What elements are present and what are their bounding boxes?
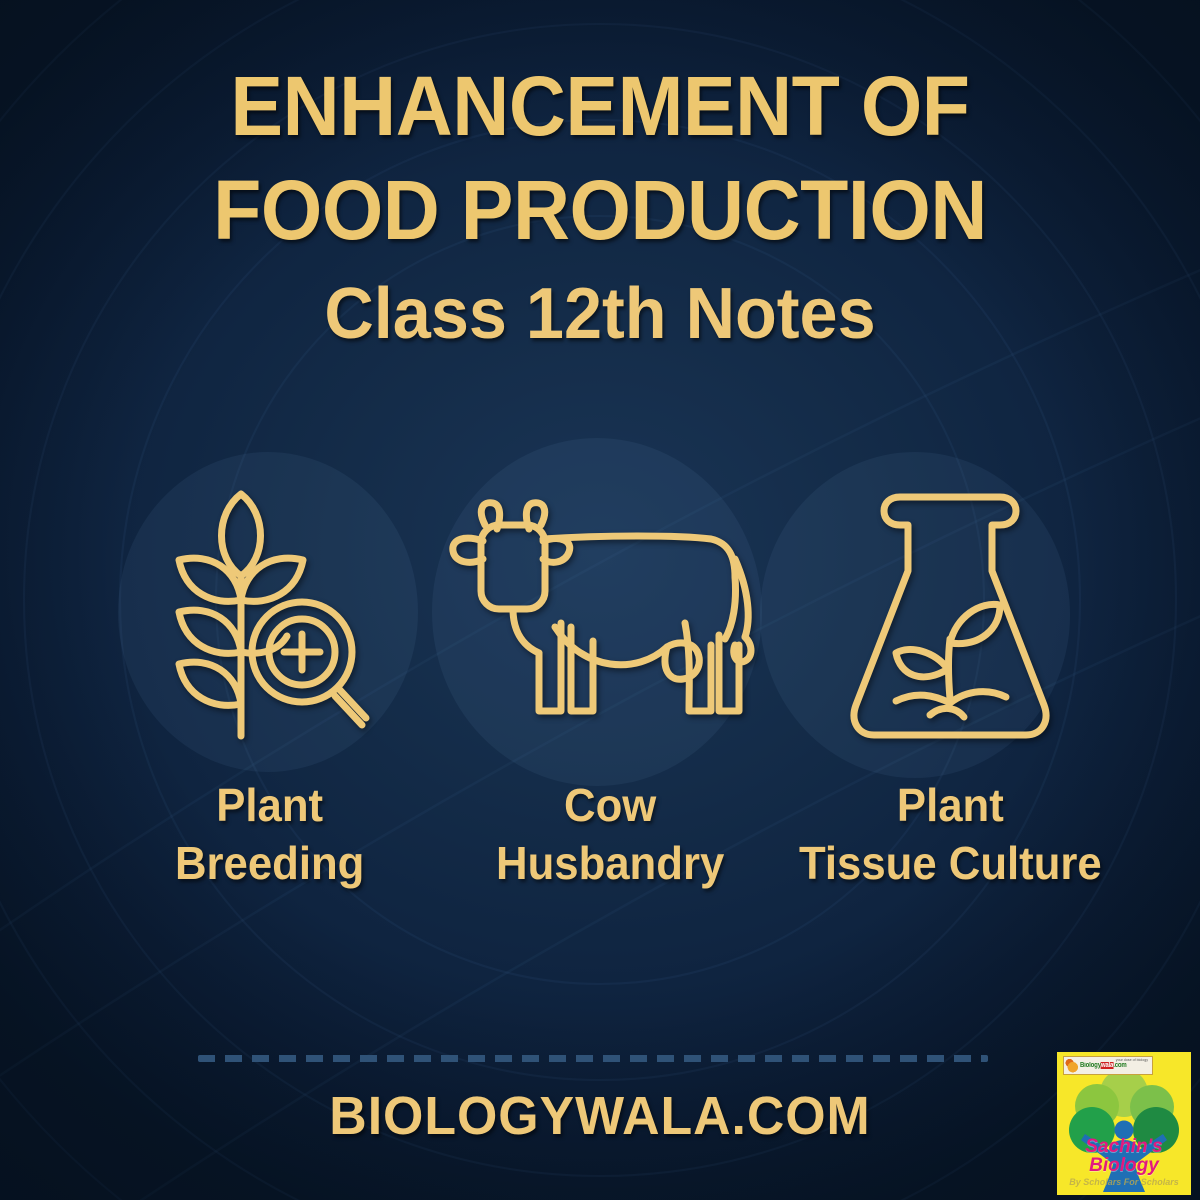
topic-card-label-plant-breeding: Plant Breeding xyxy=(175,776,364,892)
logo-brand-tagline: By Scholars For Scholars xyxy=(1057,1177,1191,1187)
logo-banner-tagline: your dose of biology xyxy=(1116,1057,1148,1062)
topic-label-line-2: Tissue Culture xyxy=(799,834,1102,892)
page-title-line-2: FOOD PRODUCTION xyxy=(36,158,1164,262)
topic-label-line-2: Breeding xyxy=(175,834,364,892)
logo-banner-chick-icon xyxy=(1064,1057,1080,1074)
poster-canvas: ENHANCEMENT OF FOOD PRODUCTION Class 12t… xyxy=(0,0,1200,1200)
topic-label-line-1: Plant xyxy=(799,776,1102,834)
logo-banner-highlight: wala xyxy=(1101,1062,1113,1069)
logo-banner-text: Biologywala.com xyxy=(1080,1062,1142,1069)
footer-website-url: BIOLOGYWALA.COM xyxy=(24,1085,1176,1147)
page-title-line-1: ENHANCEMENT OF xyxy=(36,54,1164,158)
topic-card-label-plant-tissue-culture: Plant Tissue Culture xyxy=(799,776,1102,892)
topic-label-line-2: Husbandry xyxy=(496,834,724,892)
logo-brand-name: Sachin's Biology xyxy=(1057,1137,1191,1175)
flask-seedling-icon xyxy=(838,470,1063,760)
topic-card-label-cow-husbandry: Cow Husbandry xyxy=(496,776,724,892)
wheat-stalk-magnifier-plus-icon xyxy=(163,470,378,760)
logo-banner-name: Biology xyxy=(1080,1062,1101,1069)
cow-icon xyxy=(443,470,778,760)
footer-dashed-divider xyxy=(198,1055,988,1062)
topic-label-line-1: Cow xyxy=(496,776,724,834)
topic-card-plant-tissue-culture: Plant Tissue Culture xyxy=(790,470,1110,892)
page-subtitle: Class 12th Notes xyxy=(30,268,1170,360)
sachins-biology-logo: Biologywala.com your dose of biology Sac… xyxy=(1057,1052,1191,1195)
logo-top-banner: Biologywala.com your dose of biology xyxy=(1063,1056,1153,1075)
logo-banner-suffix: .com xyxy=(1113,1062,1126,1069)
topic-card-row: Plant Breeding xyxy=(110,470,1110,892)
topic-label-line-1: Plant xyxy=(175,776,364,834)
topic-card-plant-breeding: Plant Breeding xyxy=(110,470,430,892)
topic-card-cow-husbandry: Cow Husbandry xyxy=(450,470,770,892)
title-block: ENHANCEMENT OF FOOD PRODUCTION Class 12t… xyxy=(0,54,1200,360)
